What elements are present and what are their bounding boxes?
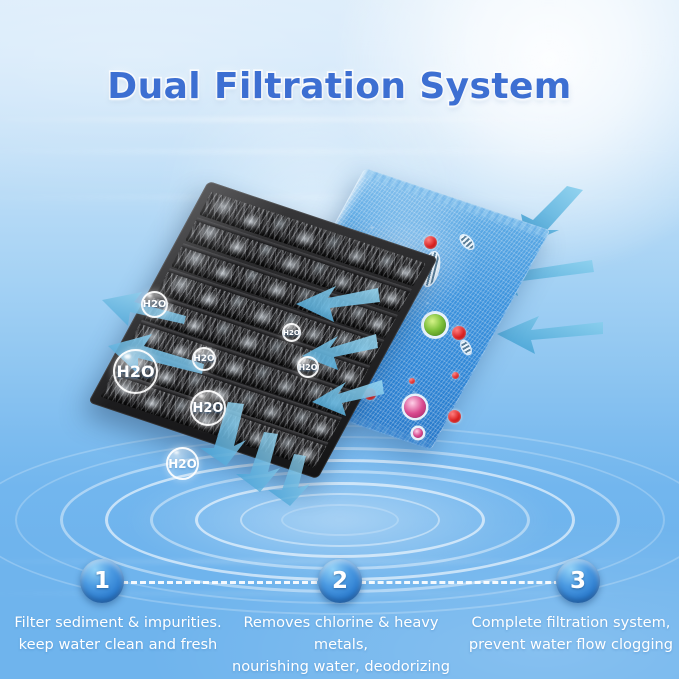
- title-container: Dual Filtration System: [0, 66, 679, 107]
- light-streak: [0, 118, 679, 121]
- steps-section: 1 2 3 Filter sediment & impurities. keep…: [0, 559, 679, 679]
- step-caption-2: Removes chlorine & heavy metals, nourish…: [224, 612, 458, 679]
- step-caption-3: Complete filtration system, prevent wate…: [466, 612, 676, 656]
- step-connector-line: [360, 581, 560, 584]
- step-number: 3: [570, 568, 586, 594]
- step-badge-3: 3: [556, 559, 600, 603]
- step-number: 2: [332, 568, 348, 594]
- page-title: Dual Filtration System: [107, 66, 571, 107]
- step-badge-2: 2: [318, 559, 362, 603]
- step-caption-1: Filter sediment & impurities. keep water…: [8, 612, 228, 656]
- light-streak: [0, 150, 679, 153]
- step-number: 1: [94, 568, 110, 594]
- step-connector-line: [122, 581, 326, 584]
- light-streak: [0, 196, 679, 199]
- step-badge-1: 1: [80, 559, 124, 603]
- ripple-ring: [281, 504, 399, 536]
- product-infographic: Dual Filtration System: [0, 0, 679, 679]
